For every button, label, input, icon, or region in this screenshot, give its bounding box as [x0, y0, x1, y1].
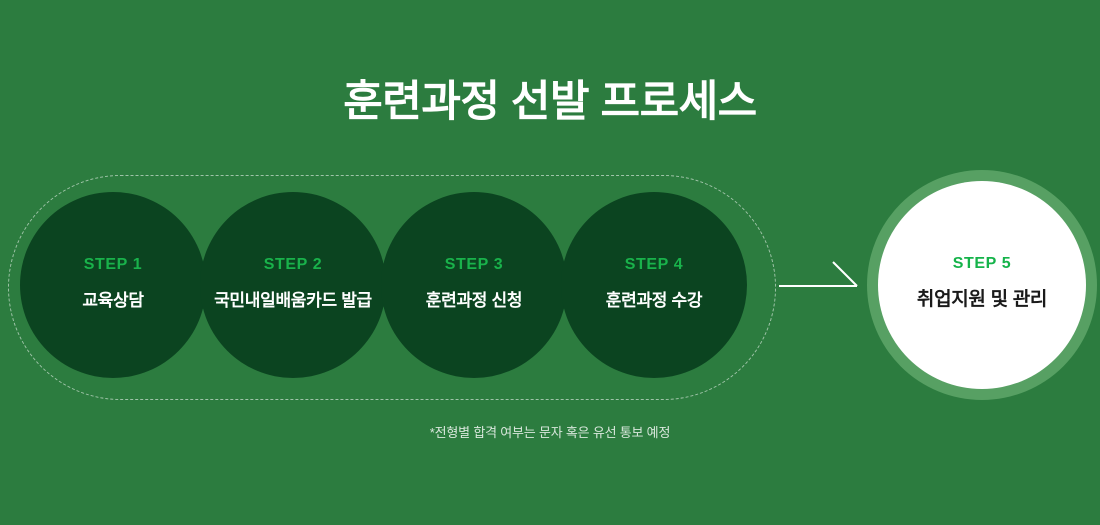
step-circle-2: STEP 2 국민내일배움카드 발급 [200, 192, 386, 378]
step-2-text: 국민내일배움카드 발급 [213, 289, 373, 314]
step-2-label: STEP 2 [264, 257, 322, 273]
step-3-text: 훈련과정 신청 [394, 289, 554, 314]
process-infographic: 훈련과정 선발 프로세스 STEP 1 교육상담 STEP 2 국민내일배움카드… [0, 0, 1100, 525]
step-circle-1: STEP 1 교육상담 [20, 192, 206, 378]
step-5-label: STEP 5 [953, 256, 1011, 272]
footnote-text: *전형별 합격 여부는 문자 혹은 유선 통보 예정 [0, 425, 1100, 441]
step-1-text: 교육상담 [33, 289, 193, 314]
step-5-text: 취업지원 및 관리 [887, 286, 1077, 314]
step-circle-5: STEP 5 취업지원 및 관리 [878, 181, 1086, 389]
step-4-label: STEP 4 [625, 257, 683, 273]
step-circle-3: STEP 3 훈련과정 신청 [381, 192, 567, 378]
step-circle-4: STEP 4 훈련과정 수강 [561, 192, 747, 378]
step-1-label: STEP 1 [84, 257, 142, 273]
arrow-right-icon [778, 255, 866, 317]
step-3-label: STEP 3 [445, 257, 503, 273]
step-4-text: 훈련과정 수강 [574, 289, 734, 314]
